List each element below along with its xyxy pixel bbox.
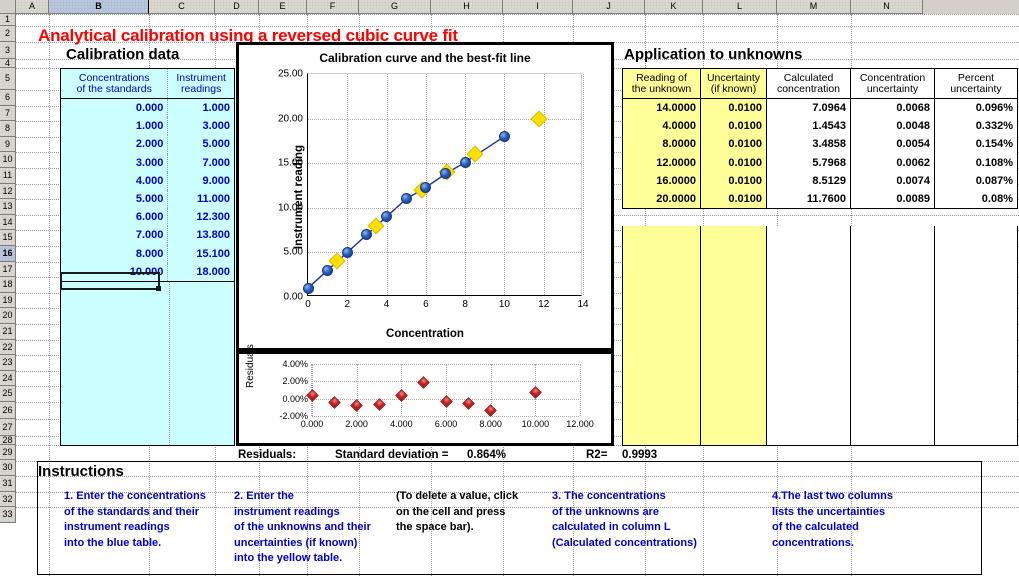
column-header-l[interactable]: L	[703, 0, 777, 14]
cell-calc-conc: 1.4543	[767, 117, 851, 135]
cell-concentration[interactable]: 1.000	[61, 117, 168, 135]
cell-conc-unc: 0.0089	[851, 190, 935, 208]
unknowns-header-4: Percentuncertainty	[935, 69, 1017, 98]
row-header-15[interactable]: 15	[0, 230, 16, 246]
cell-instrument-reading[interactable]: 15.100	[168, 245, 234, 263]
cell-pct-unc: 0.087%	[935, 172, 1017, 190]
x-axis-tick-label: 6	[423, 299, 429, 310]
standard-marker	[499, 131, 510, 142]
instruction-note: (To delete a value, click on the cell an…	[396, 489, 518, 536]
calibration-chart[interactable]: Calibration curve and the best-fit line …	[236, 42, 614, 351]
cell-uncertainty[interactable]: 0.0100	[701, 172, 767, 190]
unknowns-row[interactable]: 4.00000.01001.45430.00480.332%	[623, 117, 1017, 135]
row-header-14[interactable]: 14	[0, 215, 16, 231]
instruction-step-1-line-1: 1. Enter the concentrations	[64, 489, 206, 505]
residuals-chart[interactable]: Residuals -2.00%0.00%2.00%4.00%0.0002.00…	[236, 351, 614, 446]
gridline-vertical	[465, 74, 466, 295]
header-concentrations: Concentrations of the standards	[61, 69, 168, 98]
cell-concentration[interactable]: 8.000	[61, 245, 168, 263]
cell-instrument-reading[interactable]: 18.000	[168, 263, 234, 281]
header-instrument-readings: Instrument readings	[168, 69, 234, 98]
instruction-step-3-line-2: of the unknowns are	[552, 505, 697, 521]
cell-pct-unc: 0.108%	[935, 154, 1017, 172]
residual-marker	[440, 395, 453, 408]
cell-calc-conc: 5.7968	[767, 154, 851, 172]
row-header-27[interactable]: 27	[0, 419, 16, 436]
selected-cell-b16[interactable]	[60, 272, 160, 290]
instruction-step-2-line-2: instrument readings	[234, 505, 371, 521]
y-axis-tick-label: 15.00	[278, 158, 303, 169]
row-header-18[interactable]: 18	[0, 277, 16, 293]
cell-calc-conc: 8.5129	[767, 172, 851, 190]
cell-instrument-reading[interactable]: 5.000	[168, 135, 234, 153]
column-header-k[interactable]: K	[645, 0, 703, 14]
x-axis-tick-label: 12	[538, 299, 549, 310]
residuals-y-axis-label: Residuals	[245, 344, 256, 388]
row-header-23[interactable]: 23	[0, 355, 16, 371]
gridline-horizontal	[16, 14, 1019, 15]
cell-uncertainty[interactable]: 0.0100	[701, 135, 767, 153]
unknowns-row[interactable]: 8.00000.01003.48580.00540.154%	[623, 135, 1017, 153]
row-header-29[interactable]: 29	[0, 445, 16, 461]
gridline-horizontal	[308, 208, 581, 209]
cell-uncertainty[interactable]: 0.0100	[701, 117, 767, 135]
instruction-step-2-line-3: of the unknowns and their	[234, 520, 371, 536]
row-header-32[interactable]: 32	[0, 492, 16, 508]
unknowns-header-0: Reading ofthe unknown	[623, 69, 701, 98]
cell-concentration[interactable]: 2.000	[61, 135, 168, 153]
unknowns-header-3: Concentrationuncertainty	[851, 69, 935, 98]
calibration-table-header: Concentrations of the standards Instrume…	[61, 69, 234, 99]
instruction-note-line-3: the space bar).	[396, 520, 518, 536]
y-axis-tick-label: 25.00	[278, 69, 303, 80]
cell-pct-unc: 0.332%	[935, 117, 1017, 135]
residuals-label: Residuals:	[238, 449, 296, 461]
row-header-16[interactable]: 16	[0, 246, 16, 262]
row-header-1[interactable]: 1	[0, 14, 16, 26]
standard-marker	[322, 265, 333, 276]
instruction-step-4-line-4: concentrations.	[772, 536, 893, 552]
r2-value: 0.9993	[622, 449, 657, 461]
instruction-step-3-line-1: 3. The concentrations	[552, 489, 697, 505]
column-header-b[interactable]: B	[49, 0, 149, 14]
row-header-20[interactable]: 20	[0, 308, 16, 324]
gridline-horizontal	[312, 416, 579, 417]
instruction-step-2: 2. Enter theinstrument readingsof the un…	[234, 489, 371, 567]
column-header-g[interactable]: G	[359, 0, 431, 14]
cell-concentration[interactable]: 4.000	[61, 172, 168, 190]
row-header-21[interactable]: 21	[0, 324, 16, 340]
x-axis-tick-label: 2	[345, 299, 351, 310]
gridline-vertical	[504, 74, 505, 295]
row-header-8[interactable]: 8	[0, 121, 16, 137]
unknowns-row[interactable]: 12.00000.01005.79680.00620.108%	[623, 154, 1017, 172]
cell-concentration[interactable]: 0.000	[61, 99, 168, 117]
row-header-33[interactable]: 33	[0, 507, 16, 523]
column-header-d[interactable]: D	[215, 0, 259, 14]
instruction-step-1-line-2: of the standards and their	[64, 505, 206, 521]
instruction-step-1: 1. Enter the concentrationsof the standa…	[64, 489, 206, 551]
cell-concentration[interactable]: 3.000	[61, 154, 168, 172]
residuals-x-tick-label: 10.000	[522, 419, 550, 429]
residual-marker	[328, 396, 341, 409]
residuals-x-tick-label: 0.000	[301, 419, 324, 429]
cell-calc-conc: 11.7600	[767, 190, 851, 208]
row-header-28[interactable]: 28	[0, 436, 16, 445]
cell-conc-unc: 0.0062	[851, 154, 935, 172]
unknowns-header-2: Calculatedconcentration	[767, 69, 851, 98]
column-header-j[interactable]: J	[573, 0, 645, 14]
cell-instrument-reading[interactable]: 3.000	[168, 117, 234, 135]
y-axis-tick-label: 0.00	[284, 292, 303, 303]
unknowns-row[interactable]: 16.00000.01008.51290.00740.087%	[623, 172, 1017, 190]
residuals-x-tick-label: 2.000	[345, 419, 368, 429]
unknowns-table-header: Reading ofthe unknownUncertainty(if know…	[623, 69, 1017, 99]
instruction-step-4: 4.The last two columnslists the uncertai…	[772, 489, 893, 551]
cell-instrument-reading[interactable]: 13.800	[168, 226, 234, 244]
column-header-n[interactable]: N	[851, 0, 923, 14]
instruction-step-1-line-4: into the blue table.	[64, 536, 206, 552]
unknowns-header-1: Uncertainty(if known)	[701, 69, 767, 98]
row-header-11[interactable]: 11	[0, 168, 16, 184]
row-header-30[interactable]: 30	[0, 460, 16, 476]
row-header-7[interactable]: 7	[0, 106, 16, 122]
standard-marker	[401, 193, 412, 204]
calibration-row[interactable]: 6.00012.300	[61, 208, 234, 226]
unknowns-table[interactable]: Reading ofthe unknownUncertainty(if know…	[622, 68, 1018, 209]
unknowns-row[interactable]: 20.00000.010011.76000.00890.08%	[623, 190, 1017, 208]
row-header-12[interactable]: 12	[0, 184, 16, 200]
spreadsheet-canvas[interactable]: ABCDEFGHIJKLMN 1234567891011121314151617…	[0, 0, 1019, 576]
cell-calc-conc: 3.4858	[767, 135, 851, 153]
cell-conc-unc: 0.0054	[851, 135, 935, 153]
unknown-marker	[531, 110, 548, 127]
column-header-strip[interactable]: ABCDEFGHIJKLMN	[0, 0, 1019, 14]
residuals-plot-area: -2.00%0.00%2.00%4.00%0.0002.0004.0006.00…	[311, 364, 579, 416]
row-header-9[interactable]: 9	[0, 137, 16, 153]
cell-reading[interactable]: 14.0000	[623, 99, 701, 117]
x-axis-tick-label: 10	[499, 299, 510, 310]
cell-reading[interactable]: 20.0000	[623, 190, 701, 208]
chart-x-axis-label: Concentration	[239, 328, 611, 340]
unknowns-row[interactable]: 14.00000.01007.09640.00680.096%	[623, 99, 1017, 117]
cell-uncertainty[interactable]: 0.0100	[701, 190, 767, 208]
row-header-26[interactable]: 26	[0, 402, 16, 419]
calibration-table-empty-area[interactable]	[60, 270, 235, 446]
gridline-vertical	[347, 74, 348, 295]
cell-instrument-reading[interactable]: 11.000	[168, 190, 234, 208]
row-header-19[interactable]: 19	[0, 293, 16, 309]
cell-conc-unc: 0.0048	[851, 117, 935, 135]
residuals-x-tick-label: 12.000	[566, 419, 594, 429]
row-header-4[interactable]: 4	[0, 59, 16, 68]
column-header-e[interactable]: E	[259, 0, 307, 14]
row-header-5[interactable]: 5	[0, 68, 16, 90]
instruction-step-1-line-3: instrument readings	[64, 520, 206, 536]
row-header-2[interactable]: 2	[0, 26, 16, 42]
std-dev-label: Standard deviation =	[335, 449, 448, 461]
instruction-step-2-line-4: uncertainties (if known)	[234, 536, 371, 552]
standard-marker	[361, 229, 372, 240]
gridline-vertical	[387, 74, 388, 295]
column-header-h[interactable]: H	[431, 0, 503, 14]
cell-uncertainty[interactable]: 0.0100	[701, 154, 767, 172]
row-header-3[interactable]: 3	[0, 42, 16, 59]
column-header-a[interactable]: A	[16, 0, 49, 14]
cell-conc-unc: 0.0074	[851, 172, 935, 190]
row-header-31[interactable]: 31	[0, 476, 16, 492]
row-header-strip[interactable]: 1234567891011121314151617181920212223242…	[0, 14, 16, 523]
y-axis-tick-label: 10.00	[278, 202, 303, 213]
standard-marker	[460, 157, 471, 168]
row-header-6[interactable]: 6	[0, 90, 16, 106]
residuals-x-tick-label: 4.000	[390, 419, 413, 429]
standard-marker	[420, 182, 431, 193]
instruction-step-4-line-3: of the calculated	[772, 520, 893, 536]
residual-marker	[373, 398, 386, 411]
cell-reading[interactable]: 16.0000	[623, 172, 701, 190]
chart-title: Calibration curve and the best-fit line	[239, 51, 611, 65]
best-fit-line	[308, 74, 583, 297]
x-axis-tick-label: 0	[305, 299, 311, 310]
instruction-step-3-line-4: (Calculated concentrations)	[552, 536, 697, 552]
select-all-corner[interactable]	[0, 0, 16, 14]
cell-instrument-reading[interactable]: 12.300	[168, 208, 234, 226]
residual-marker	[350, 399, 363, 412]
residual-marker	[417, 376, 430, 389]
standard-marker	[303, 283, 314, 294]
standard-marker	[381, 211, 392, 222]
instruction-note-line-2: on the cell and press	[396, 505, 518, 521]
residual-marker	[529, 386, 542, 399]
x-axis-tick-label: 4	[384, 299, 390, 310]
gridline-vertical	[580, 364, 581, 416]
calibration-row[interactable]: 3.0007.000	[61, 154, 234, 172]
cell-pct-unc: 0.154%	[935, 135, 1017, 153]
cell-pct-unc: 0.08%	[935, 190, 1017, 208]
instruction-step-2-line-5: into the yellow table.	[234, 551, 371, 567]
residuals-y-tick-label: 2.00%	[282, 376, 308, 386]
cell-reading[interactable]: 8.0000	[623, 135, 701, 153]
cell-concentration[interactable]: 5.000	[61, 190, 168, 208]
section-heading-application-to-unknowns: Application to unknowns	[624, 46, 802, 63]
cell-calc-conc: 7.0964	[767, 99, 851, 117]
x-axis-tick-label: 8	[462, 299, 468, 310]
column-header-i[interactable]: I	[503, 0, 573, 14]
residuals-x-tick-label: 8.000	[479, 419, 502, 429]
calibration-row[interactable]: 0.0001.000	[61, 99, 234, 117]
fill-handle[interactable]	[156, 286, 161, 291]
section-heading-calibration-data: Calibration data	[66, 46, 179, 63]
cell-conc-unc: 0.0068	[851, 99, 935, 117]
cell-reading[interactable]: 12.0000	[623, 154, 701, 172]
cell-concentration[interactable]: 6.000	[61, 208, 168, 226]
row-header-13[interactable]: 13	[0, 199, 16, 215]
instruction-step-4-line-1: 4.The last two columns	[772, 489, 893, 505]
calibration-row[interactable]: 7.00013.800	[61, 226, 234, 244]
calibration-row[interactable]: 2.0005.000	[61, 135, 234, 153]
residuals-y-tick-label: 4.00%	[282, 359, 308, 369]
chart-plot-area: 0.005.0010.0015.0020.0025.0002468101214	[307, 73, 582, 296]
instruction-step-3-line-3: calculated in column L	[552, 520, 697, 536]
column-header-m[interactable]: M	[777, 0, 851, 14]
calibration-row[interactable]: 4.0009.000	[61, 172, 234, 190]
x-axis-tick-label: 14	[577, 299, 588, 310]
gridline-vertical	[544, 74, 545, 295]
cell-instrument-reading[interactable]: 9.000	[168, 172, 234, 190]
section-heading-instructions: Instructions	[38, 463, 124, 480]
cell-concentration[interactable]: 7.000	[61, 226, 168, 244]
cell-reading[interactable]: 4.0000	[623, 117, 701, 135]
row-header-24[interactable]: 24	[0, 371, 16, 387]
cell-uncertainty[interactable]: 0.0100	[701, 99, 767, 117]
residuals-y-tick-label: 0.00%	[282, 394, 308, 404]
residuals-x-tick-label: 6.000	[435, 419, 458, 429]
calibration-table[interactable]: Concentrations of the standards Instrume…	[60, 68, 235, 282]
gridline-vertical	[583, 74, 584, 295]
column-header-c[interactable]: C	[149, 0, 215, 14]
standard-marker	[342, 247, 353, 258]
instruction-step-2-line-1: 2. Enter the	[234, 489, 371, 505]
unknowns-table-empty-area[interactable]	[622, 226, 1018, 446]
row-header-10[interactable]: 10	[0, 152, 16, 168]
calibration-row[interactable]: 5.00011.000	[61, 190, 234, 208]
calibration-row[interactable]: 8.00015.100	[61, 245, 234, 263]
cell-pct-unc: 0.096%	[935, 99, 1017, 117]
calibration-row[interactable]: 1.0003.000	[61, 117, 234, 135]
y-axis-tick-label: 5.00	[284, 247, 303, 258]
row-header-22[interactable]: 22	[0, 340, 16, 356]
instruction-note-line-1: (To delete a value, click	[396, 489, 518, 505]
cell-instrument-reading[interactable]: 7.000	[168, 154, 234, 172]
instruction-step-3: 3. The concentrationsof the unknowns are…	[552, 489, 697, 551]
row-header-25[interactable]: 25	[0, 386, 16, 402]
y-axis-tick-label: 20.00	[278, 113, 303, 124]
cell-instrument-reading[interactable]: 1.000	[168, 99, 234, 117]
column-header-f[interactable]: F	[307, 0, 359, 14]
row-header-17[interactable]: 17	[0, 262, 16, 278]
instruction-step-4-line-2: lists the uncertainties	[772, 505, 893, 521]
std-dev-value: 0.864%	[467, 449, 506, 461]
r2-label: R2=	[586, 449, 607, 461]
